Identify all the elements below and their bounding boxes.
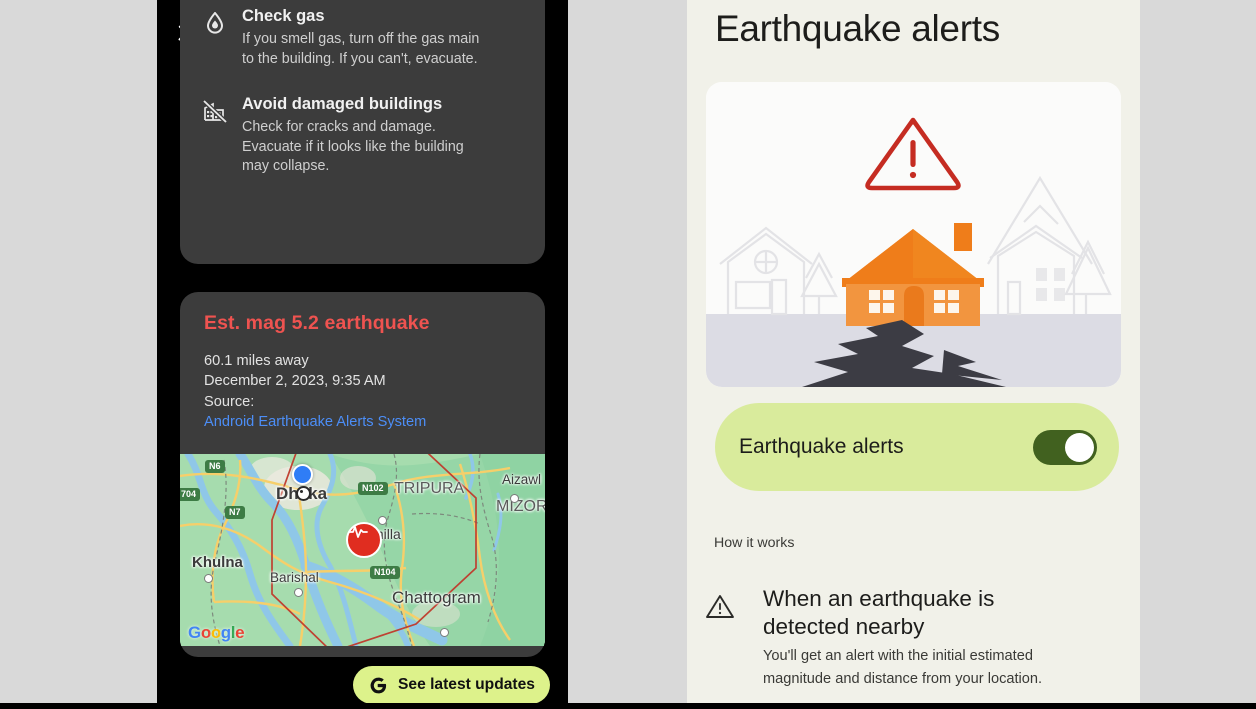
earthquake-alerts-switch[interactable] — [1033, 430, 1097, 465]
safety-item-title: Check gas — [242, 7, 523, 26]
earthquake-map[interactable]: Dhaka Khulna Barishal Chattogram milla T… — [180, 454, 545, 646]
road-shield-n6: N6 — [205, 460, 225, 473]
safety-item: Avoid damaged buildings Check for cracks… — [180, 95, 523, 177]
how-it-works-text: When an earthquake is detected nearby Yo… — [763, 585, 1042, 691]
road-shield-n7: N7 — [225, 506, 245, 519]
earthquake-distance: 60.1 miles away — [204, 351, 521, 371]
my-location-dot — [292, 464, 313, 485]
earthquake-detail-text: Est. mag 5.2 earthquake 60.1 miles away … — [180, 292, 545, 433]
earthquake-epicenter-icon — [346, 522, 382, 558]
map-label-barishal: Barishal — [270, 570, 319, 585]
map-city-dot — [294, 588, 303, 597]
safety-item-title: Avoid damaged buildings — [242, 95, 523, 114]
map-label-chattogram: Chattogram — [392, 588, 481, 608]
bottom-black-strip — [0, 703, 1256, 709]
damaged-building-icon — [202, 98, 228, 124]
earthquake-alerts-toggle-label: Earthquake alerts — [739, 435, 904, 459]
how-it-works-title: When an earthquake is detected nearby — [763, 585, 1042, 640]
how-it-works-body: You'll get an alert with the initial est… — [763, 645, 1042, 691]
switch-knob — [1065, 433, 1094, 462]
see-latest-updates-label: See latest updates — [398, 676, 535, 694]
how-it-works-item: When an earthquake is detected nearby Yo… — [705, 585, 1125, 691]
safety-item: Check gas If you smell gas, turn off the… — [180, 7, 523, 69]
gas-drop-icon — [202, 10, 228, 36]
safety-item-body: Check for cracks and damage. Evacuate if… — [242, 118, 523, 177]
earthquake-detail-card: Est. mag 5.2 earthquake 60.1 miles away … — [180, 292, 545, 657]
how-it-works-heading: How it works — [714, 535, 794, 551]
earthquake-safety-info-screen: Earthquake safety info Check gas If you … — [157, 0, 568, 709]
warning-triangle-icon — [705, 585, 739, 691]
see-latest-updates-button[interactable]: See latest updates — [353, 666, 550, 704]
map-label-mizoram: MIZOR — [496, 498, 545, 516]
screenshot-stage: Earthquake safety info Check gas If you … — [0, 0, 1256, 709]
map-city-dot — [510, 494, 519, 503]
google-watermark: Google — [188, 623, 244, 643]
map-city-dot — [440, 628, 449, 637]
road-shield-n102: N102 — [358, 482, 388, 495]
map-city-dot — [204, 574, 213, 583]
earthquake-datetime: December 2, 2023, 9:35 AM — [204, 371, 521, 391]
earthquake-magnitude-headline: Est. mag 5.2 earthquake — [204, 312, 521, 335]
map-label-tripura: TRIPURA — [394, 480, 464, 498]
google-g-icon — [369, 676, 388, 695]
earthquake-source-label: Source: — [204, 392, 521, 412]
safety-tips-card: Check gas If you smell gas, turn off the… — [180, 0, 545, 264]
earthquake-house-illustration — [706, 82, 1121, 387]
earthquake-alerts-toggle-row[interactable]: Earthquake alerts — [715, 403, 1119, 491]
road-shield-n104: N104 — [370, 566, 400, 579]
map-city-dot — [378, 516, 387, 525]
settings-page-title: Earthquake alerts — [715, 8, 1140, 50]
map-label-khulna: Khulna — [192, 554, 243, 571]
road-shield-704: 704 — [180, 488, 200, 501]
safety-item-body: If you smell gas, turn off the gas main … — [242, 30, 523, 69]
dhaka-capital-marker — [296, 486, 311, 501]
map-label-aizawl: Aizawl — [502, 472, 541, 487]
earthquake-alerts-settings-screen: Earthquake alerts — [687, 0, 1140, 703]
earthquake-source-link[interactable]: Android Earthquake Alerts System — [204, 412, 521, 432]
